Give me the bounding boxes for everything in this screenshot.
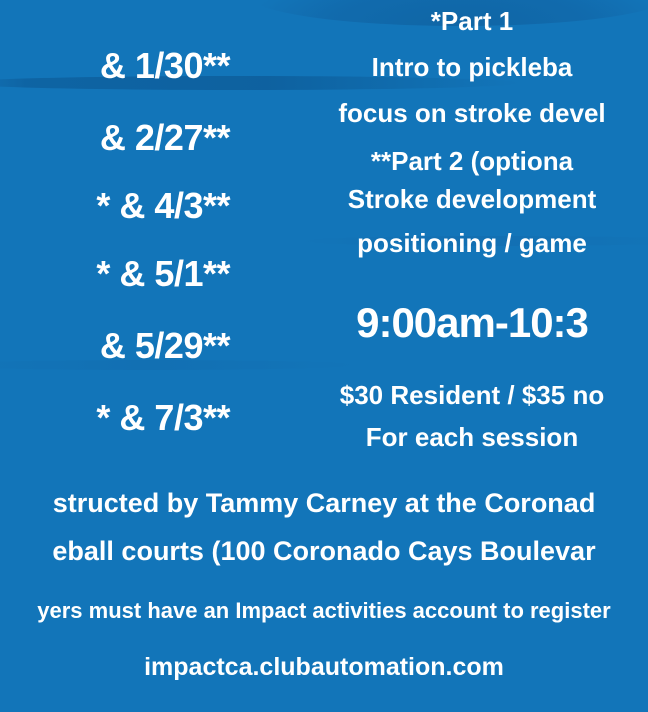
session-date-line-2: & 2/27**	[100, 120, 230, 156]
part2-label: **Part 2 (optiona	[296, 148, 648, 174]
footer-account-note: yers must have an Impact activities acco…	[0, 600, 648, 622]
session-date-line-6: * & 7/3**	[96, 400, 230, 436]
session-date-line-5: & 5/29**	[100, 328, 230, 364]
pricing-subtext: For each session	[296, 424, 648, 450]
part1-description-line-1: Intro to pickleba	[296, 54, 648, 80]
part1-description-line-2: focus on stroke devel	[296, 100, 648, 126]
flyer-canvas: & 1/30** & 2/27** * & 4/3** * & 5/1** & …	[0, 0, 648, 712]
session-date-line-4: * & 5/1**	[96, 256, 230, 292]
footer-location-line: eball courts (100 Coronado Cays Boulevar	[0, 538, 648, 565]
part1-label: *Part 1	[296, 8, 648, 34]
part2-description-line-2: positioning / game	[296, 230, 648, 256]
session-date-line-3: * & 4/3**	[96, 188, 230, 224]
part2-description-line-1: Stroke development	[296, 186, 648, 212]
class-time: 9:00am-10:3	[296, 302, 648, 344]
registration-url[interactable]: impactca.clubautomation.com	[0, 655, 648, 680]
footer-instructor-line: structed by Tammy Carney at the Coronad	[0, 490, 648, 517]
pricing-line: $30 Resident / $35 no	[296, 382, 648, 408]
session-date-line-1: & 1/30**	[100, 48, 230, 84]
